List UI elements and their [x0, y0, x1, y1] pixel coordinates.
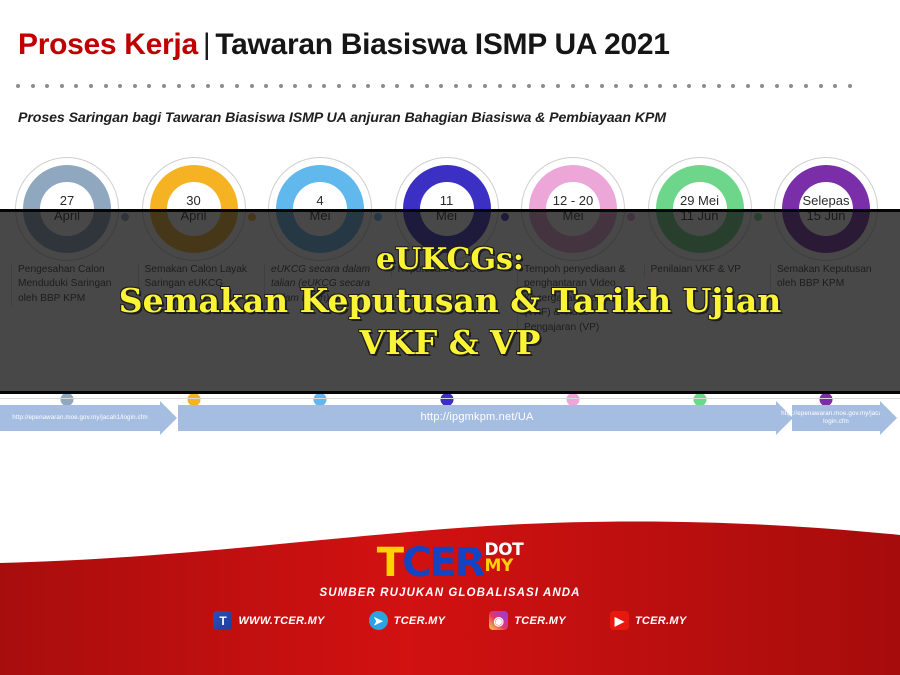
- social-link[interactable]: ◉TCER.MY: [489, 611, 566, 630]
- divider-dot: [848, 84, 852, 88]
- telegram-icon: ➤: [369, 611, 388, 630]
- divider-dot: [425, 84, 429, 88]
- divider-dot: [220, 84, 224, 88]
- divider-dot: [206, 84, 210, 88]
- youtube-icon: ▶: [610, 611, 629, 630]
- divider-dot: [498, 84, 502, 88]
- divider-dot: [541, 84, 545, 88]
- social-link-label: WWW.TCER.MY: [238, 615, 324, 627]
- social-link[interactable]: ▶TCER.MY: [610, 611, 687, 630]
- social-link[interactable]: ➤TCER.MY: [369, 611, 446, 630]
- page-title: Proses Kerja|Tawaran Biasiswa ISMP UA 20…: [18, 28, 670, 62]
- divider-dot: [366, 84, 370, 88]
- url-arrow-right-label: http://epenawaran.moe.gov.my/jacah1/ log…: [777, 410, 895, 426]
- arrow-head-icon: [160, 401, 177, 435]
- tcer-logo: TCERDOTMY SUMBER RUJUKAN GLOBALISASI AND…: [0, 543, 900, 599]
- node-date-line-1: 27: [60, 194, 74, 209]
- divider-dot: [717, 84, 721, 88]
- divider-dot: [556, 84, 560, 88]
- social-link-label: TCER.MY: [394, 615, 446, 627]
- node-date-line-1: 29 Mei: [680, 194, 719, 209]
- divider-dot: [833, 84, 837, 88]
- divider-dot: [235, 84, 239, 88]
- overlay-top-edge: [0, 209, 900, 212]
- divider-dot: [789, 84, 793, 88]
- tcer-wordmark: TCERDOTMY: [377, 543, 523, 583]
- divider-dot: [395, 84, 399, 88]
- divider-dot: [118, 84, 122, 88]
- divider-dot: [468, 84, 472, 88]
- divider-dot: [775, 84, 779, 88]
- divider-dot: [177, 84, 181, 88]
- divider-dot: [191, 84, 195, 88]
- logo-my: MY: [485, 558, 524, 574]
- divider-dot: [687, 84, 691, 88]
- logo-dot-my: DOTMY: [485, 542, 524, 575]
- divider-dot: [819, 84, 823, 88]
- dark-overlay-band: [0, 209, 900, 394]
- divider-dot: [74, 84, 78, 88]
- logo-letters-cer: CER: [402, 540, 483, 586]
- divider-dot: [804, 84, 808, 88]
- logo-tagline: SUMBER RUJUKAN GLOBALISASI ANDA: [0, 587, 900, 599]
- social-link-label: TCER.MY: [635, 615, 687, 627]
- divider-dot: [60, 84, 64, 88]
- divider-dot: [45, 84, 49, 88]
- node-date-line-1: 4: [316, 194, 323, 209]
- divider-dot: [279, 84, 283, 88]
- divider-dot: [147, 84, 151, 88]
- dotted-divider: [16, 84, 871, 90]
- page-subtitle: Proses Saringan bagi Tawaran Biasiswa IS…: [18, 110, 666, 126]
- timeline-baseline: [0, 398, 900, 399]
- node-date-line-1: 11: [440, 194, 454, 209]
- divider-dot: [658, 84, 662, 88]
- tcer-logo-icon: T: [213, 611, 232, 630]
- divider-dot: [133, 84, 137, 88]
- divider-dot: [439, 84, 443, 88]
- url-arrow-bar: http://epenawaran.moe.gov.my/jacah1/logi…: [0, 405, 900, 439]
- node-date-line-1: 12 - 20: [553, 194, 593, 209]
- divider-dot: [264, 84, 268, 88]
- divider-dot: [352, 84, 356, 88]
- divider-dot: [89, 84, 93, 88]
- logo-letter-t: T: [377, 540, 402, 586]
- divider-dot: [614, 84, 618, 88]
- footer-banner: TCERDOTMY SUMBER RUJUKAN GLOBALISASI AND…: [0, 515, 900, 675]
- divider-dot: [673, 84, 677, 88]
- arrow-head-icon: [880, 401, 897, 435]
- instagram-icon: ◉: [489, 611, 508, 630]
- divider-dot: [702, 84, 706, 88]
- divider-dot: [381, 84, 385, 88]
- divider-dot: [322, 84, 326, 88]
- social-link-label: TCER.MY: [514, 615, 566, 627]
- divider-dot: [31, 84, 35, 88]
- social-links-bar: TWWW.TCER.MY➤TCER.MY◉TCER.MY▶TCER.MY: [0, 611, 900, 630]
- divider-dot: [104, 84, 108, 88]
- divider-dot: [571, 84, 575, 88]
- divider-dot: [308, 84, 312, 88]
- divider-dot: [585, 84, 589, 88]
- divider-dot: [16, 84, 20, 88]
- divider-dot: [454, 84, 458, 88]
- divider-dot: [746, 84, 750, 88]
- social-link[interactable]: TWWW.TCER.MY: [213, 611, 324, 630]
- title-black-part: Tawaran Biasiswa ISMP UA 2021: [215, 28, 669, 61]
- divider-dot: [250, 84, 254, 88]
- url-arrow-left-label: http://epenawaran.moe.gov.my/jacah1/logi…: [8, 414, 151, 422]
- divider-dot: [731, 84, 735, 88]
- title-red-part: Proses Kerja: [18, 28, 198, 61]
- node-date-line-1: 30: [186, 194, 200, 209]
- title-separator: |: [203, 28, 211, 61]
- overlay-bottom-edge: [0, 391, 900, 394]
- divider-dot: [527, 84, 531, 88]
- url-arrow-center[interactable]: http://ipgmkpm.net/UA: [178, 405, 776, 431]
- divider-dot: [410, 84, 414, 88]
- divider-dot: [644, 84, 648, 88]
- url-arrow-right[interactable]: http://epenawaran.moe.gov.my/jacah1/ log…: [792, 405, 880, 431]
- node-date-line-1: Selepas: [803, 194, 850, 209]
- divider-dot: [337, 84, 341, 88]
- divider-dot: [162, 84, 166, 88]
- divider-dot: [760, 84, 764, 88]
- divider-dot: [600, 84, 604, 88]
- url-arrow-left[interactable]: http://epenawaran.moe.gov.my/jacah1/logi…: [0, 405, 160, 431]
- url-arrow-center-label: http://ipgmkpm.net/UA: [416, 411, 537, 425]
- divider-dot: [512, 84, 516, 88]
- divider-dot: [483, 84, 487, 88]
- divider-dot: [629, 84, 633, 88]
- divider-dot: [293, 84, 297, 88]
